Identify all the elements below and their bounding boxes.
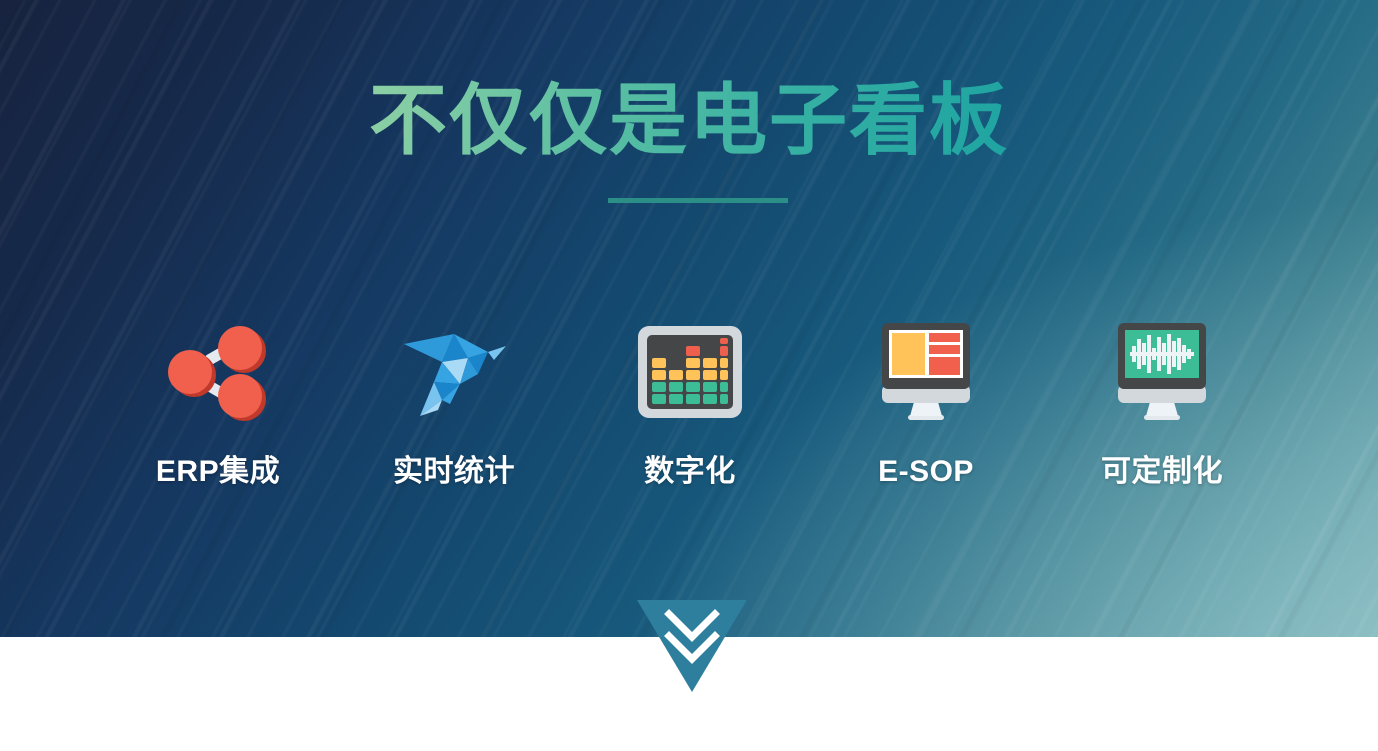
feature-label: 数字化 (644, 454, 736, 490)
feature-label: 可定制化 (1101, 454, 1223, 490)
feature-label: ERP集成 (156, 454, 280, 490)
title-divider (608, 198, 788, 203)
feature-item-customizable[interactable]: 可定制化 (1054, 312, 1270, 490)
page-root: 不仅仅是电子看板 (0, 0, 1378, 751)
feature-label: E-SOP (878, 454, 974, 490)
feature-item-erp-integration[interactable]: ERP集成 (110, 312, 326, 490)
monitor-waveform-icon (1110, 312, 1214, 432)
hero-banner: 不仅仅是电子看板 (0, 0, 1378, 637)
equalizer-board-icon (638, 312, 742, 432)
monitor-layout-icon (874, 312, 978, 432)
feature-item-digitalization[interactable]: 数字化 (582, 312, 798, 490)
feature-list: ERP集成 (110, 312, 1270, 490)
feature-item-e-sop[interactable]: E-SOP (818, 312, 1034, 490)
origami-bird-icon (398, 312, 510, 432)
feature-item-realtime-statistics[interactable]: 实时统计 (346, 312, 562, 490)
share-network-icon (165, 312, 271, 432)
page-title: 不仅仅是电子看板 (0, 72, 1378, 168)
feature-label: 实时统计 (393, 454, 515, 490)
